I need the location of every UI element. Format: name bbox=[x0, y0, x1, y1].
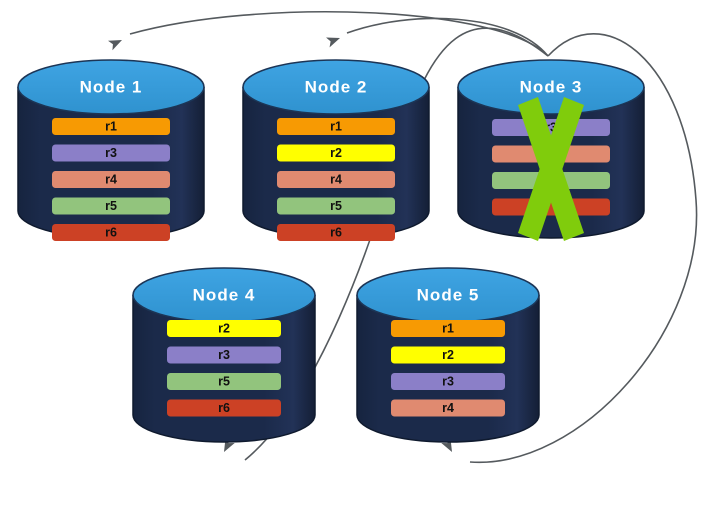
node-4-replica-4-label: r6 bbox=[218, 401, 230, 415]
node-4[interactable]: Node 4r2r3r5r6 bbox=[133, 268, 315, 442]
arrowhead-node-2 bbox=[326, 33, 342, 47]
node-3[interactable]: Node 3r3 bbox=[458, 60, 644, 241]
edge-node-3-to-node-1 bbox=[130, 12, 548, 56]
node-5-replica-3-label: r3 bbox=[442, 374, 454, 388]
node-1-replica-1-label: r1 bbox=[105, 119, 117, 133]
node-4-replica-1-label: r2 bbox=[218, 321, 230, 335]
node-1-title: Node 1 bbox=[80, 77, 143, 96]
node-1-replica-3-label: r4 bbox=[105, 172, 117, 186]
node-1-replica-2-label: r3 bbox=[105, 146, 117, 160]
diagram-canvas: Node 1r1r3r4r5r6Node 2r1r2r4r5r6Node 3r3… bbox=[0, 0, 708, 508]
node-5[interactable]: Node 5r1r2r3r4 bbox=[357, 268, 539, 442]
node-5-replica-2-label: r2 bbox=[442, 348, 454, 362]
arrowhead-node-1 bbox=[108, 35, 124, 50]
node-2-replica-3-label: r4 bbox=[330, 172, 342, 186]
node-4-replica-3-label: r5 bbox=[218, 374, 230, 388]
node-1-replica-5-label: r6 bbox=[105, 225, 117, 239]
node-2-replica-4-label: r5 bbox=[330, 199, 342, 213]
arrowhead-glyph bbox=[108, 35, 124, 50]
node-2-replica-2-label: r2 bbox=[330, 146, 342, 160]
node-1-replica-4-label: r5 bbox=[105, 199, 117, 213]
node-1[interactable]: Node 1r1r3r4r5r6 bbox=[18, 60, 204, 241]
node-5-title: Node 5 bbox=[417, 285, 480, 304]
node-4-replica-2-label: r3 bbox=[218, 348, 230, 362]
arrowhead-glyph bbox=[326, 33, 342, 47]
node-2-replica-5-label: r6 bbox=[330, 225, 342, 239]
node-3-title: Node 3 bbox=[520, 77, 583, 96]
node-2[interactable]: Node 2r1r2r4r5r6 bbox=[243, 60, 429, 241]
node-4-title: Node 4 bbox=[193, 285, 256, 304]
nodes-layer: Node 1r1r3r4r5r6Node 2r1r2r4r5r6Node 3r3… bbox=[18, 60, 644, 442]
node-2-title: Node 2 bbox=[305, 77, 368, 96]
node-5-replica-1-label: r1 bbox=[442, 321, 454, 335]
node-5-replica-4-label: r4 bbox=[442, 401, 454, 415]
node-2-replica-1-label: r1 bbox=[330, 119, 342, 133]
